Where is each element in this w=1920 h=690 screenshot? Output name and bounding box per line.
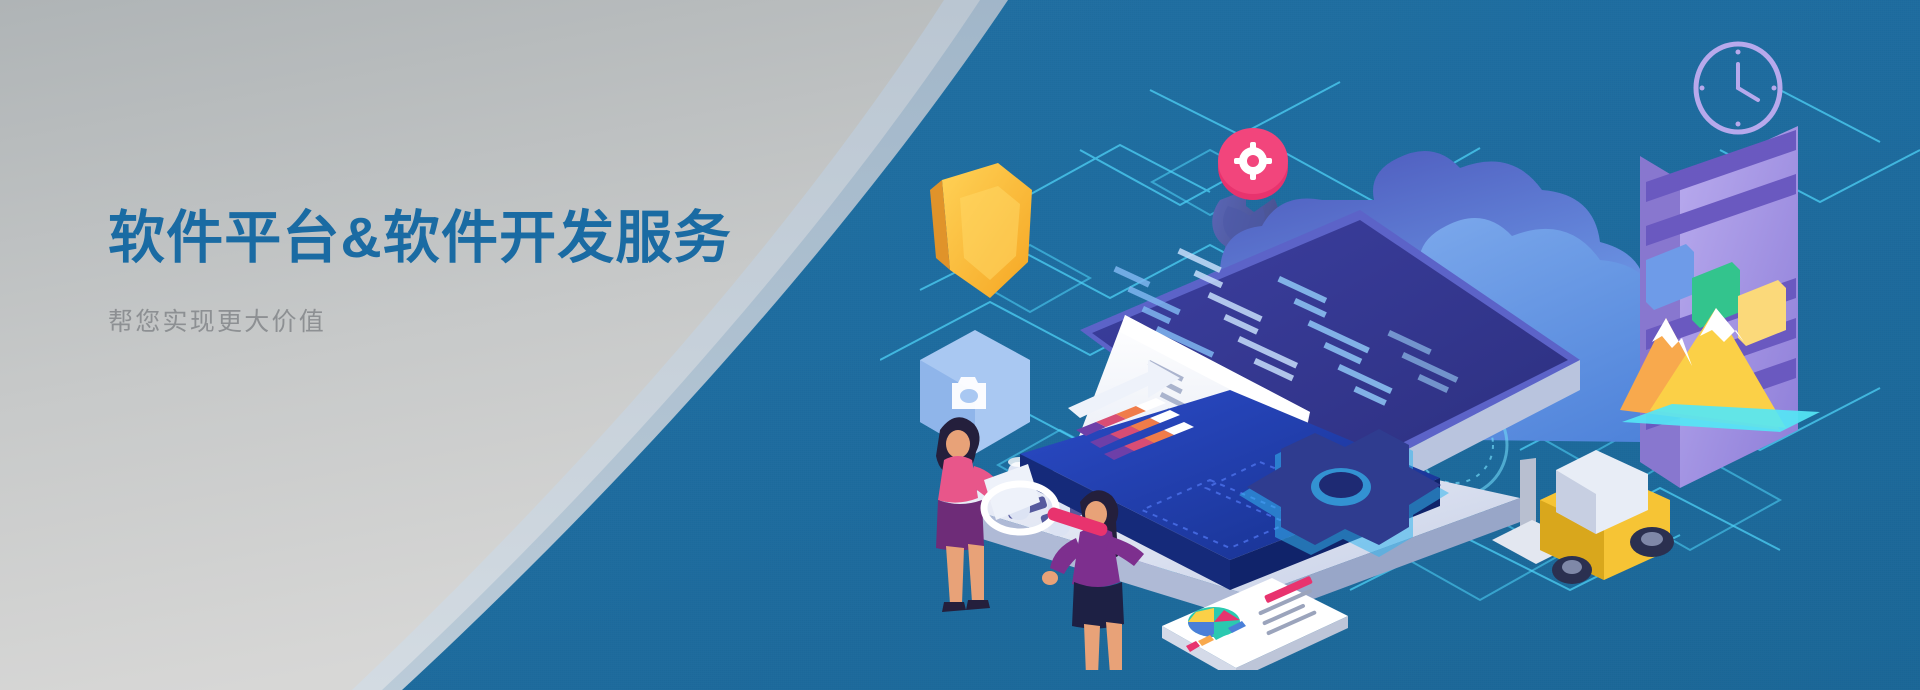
page-subtitle: 帮您实现更大价值 bbox=[108, 307, 868, 337]
hero-text-block: 软件平台&软件开发服务 帮您实现更大价值 bbox=[108, 207, 868, 337]
page-title: 软件平台&软件开发服务 bbox=[108, 207, 868, 271]
background-gray-curve bbox=[0, 0, 1920, 690]
hero-banner: 软件平台&软件开发服务 帮您实现更大价值 bbox=[0, 0, 1920, 690]
